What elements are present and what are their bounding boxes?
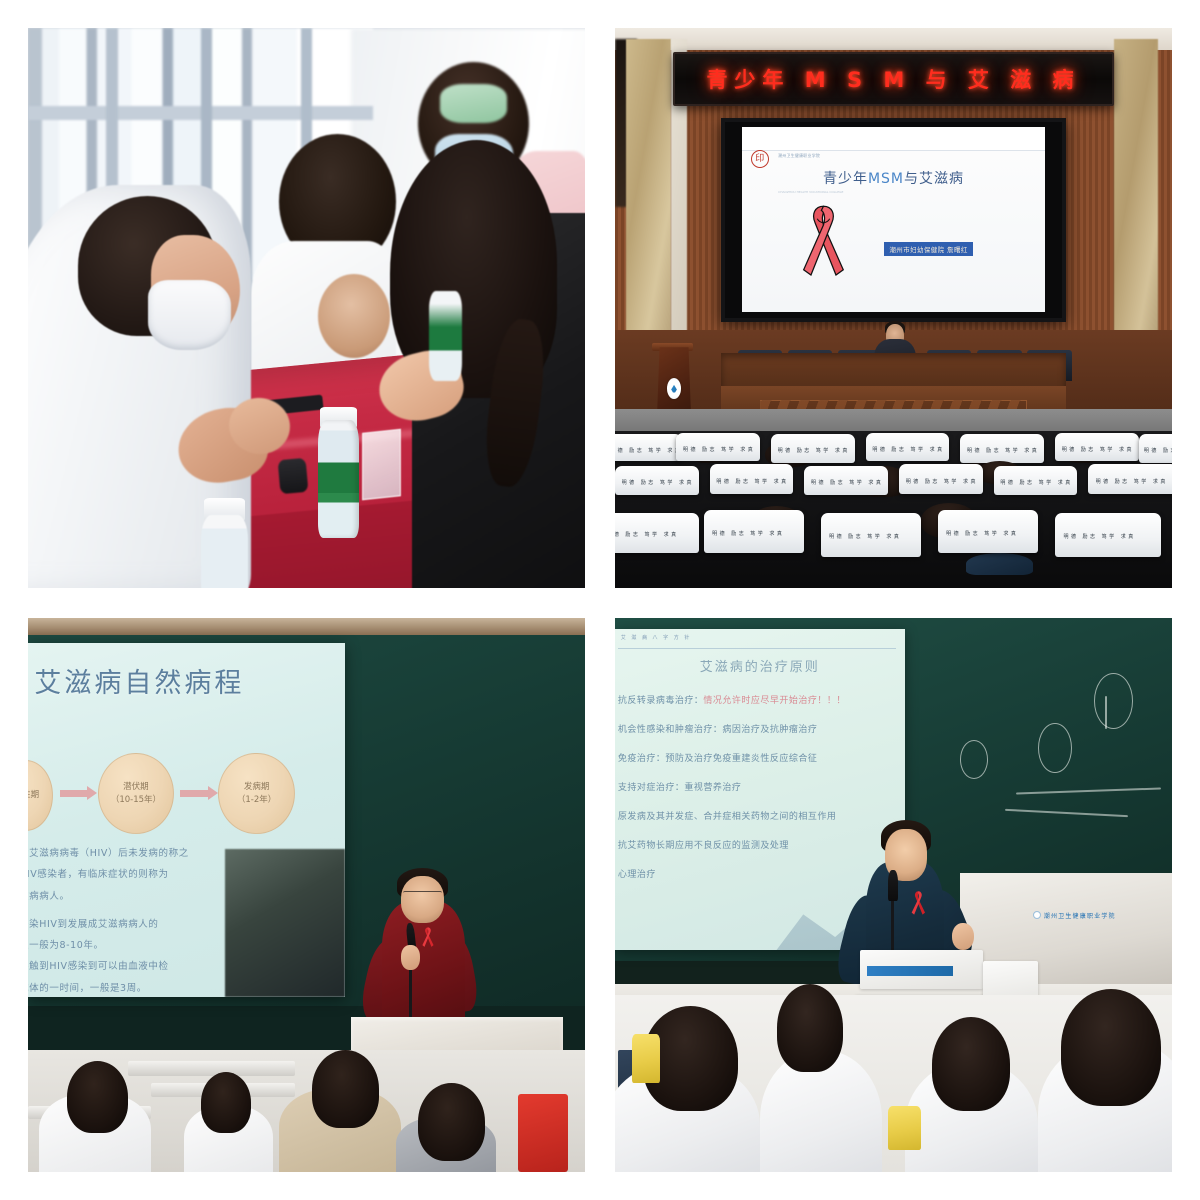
microphone-icon bbox=[888, 870, 898, 900]
flow-arrow bbox=[60, 790, 89, 797]
slide-header: 艾 滋 病 八 字 方 针 bbox=[621, 634, 692, 641]
child-head bbox=[318, 274, 390, 358]
student-head bbox=[777, 984, 844, 1073]
aids-ribbon-icon bbox=[784, 201, 863, 290]
audience-head bbox=[312, 1050, 379, 1128]
slide-title: 艾滋病自然病程 bbox=[34, 661, 244, 700]
panel-classroom-natural-history: 艾滋病自然病程 急性期 潜伏期 （10-15年） 发病期 （1-2年） 感染艾滋… bbox=[28, 618, 585, 1172]
slide-title-part1: 青少年 bbox=[823, 171, 868, 187]
audience-head bbox=[201, 1072, 251, 1133]
face-mask-green bbox=[440, 84, 507, 123]
water-bottle bbox=[429, 291, 462, 381]
aids-ribbon-pin-icon bbox=[421, 926, 435, 950]
stage-label: 急性期 bbox=[28, 789, 39, 802]
chalk-circle bbox=[1038, 723, 1071, 773]
student-head bbox=[932, 1017, 1010, 1111]
slide-title-msm: MSM bbox=[868, 171, 904, 187]
cabinet-org-name: 潮州卫生健康职业学院 bbox=[1044, 911, 1116, 920]
desk-edge bbox=[128, 1061, 295, 1075]
led-banner: 青少年 M S M 与 艾 滋 病 bbox=[673, 52, 1113, 107]
doctor-face-mask bbox=[148, 280, 232, 350]
stage-label: 发病期 bbox=[244, 781, 270, 794]
slide-body-line: 感染艾滋病病毒（HIV）后未发病的称之 bbox=[28, 845, 189, 859]
chalk-circle bbox=[1094, 673, 1133, 728]
stage-ellipse-symptomatic: 发病期 （1-2年） bbox=[218, 753, 294, 835]
panel-classroom-treatment-principles: 艾 滋 病 八 字 方 针 艾滋病的治疗原则 抗反转录病毒治疗：情况允许时应尽早… bbox=[615, 618, 1172, 1172]
slide-body-line: 出抗体的一时间，一般是3周。 bbox=[28, 980, 147, 994]
slide-title: 青少年MSM与艾滋病 bbox=[742, 168, 1046, 188]
seal-icon: 印 bbox=[751, 150, 769, 168]
audience-head bbox=[67, 1061, 128, 1133]
slide-header-org-en: CHAOZHOU HEALTH VOCATIONAL COLLEGE bbox=[778, 190, 843, 194]
slide-body-line: 过程一般为8-10年。 bbox=[28, 937, 104, 951]
slide-bullet: 抗反转录病毒治疗：情况允许时应尽早开始治疗！！！ bbox=[618, 693, 846, 706]
slide-title: 艾滋病的治疗原则 bbox=[615, 656, 905, 675]
audience-navy-hoodie bbox=[966, 553, 1033, 575]
glasses-icon bbox=[403, 891, 442, 899]
slide-author-label: 潮州市妇幼保健院 詹曙红 bbox=[884, 242, 972, 256]
slide-bullet: 原发病及其并发症、合并症相关药物之间的相互作用 bbox=[618, 809, 837, 822]
stage-duration: （1-2年） bbox=[237, 794, 276, 807]
dark-cup bbox=[277, 458, 308, 494]
slide-body-line: 从接触到HIV感染到可以由血液中检 bbox=[28, 958, 169, 972]
led-banner-text: 青少年 M S M 与 艾 滋 病 bbox=[706, 64, 1080, 94]
water-bottle bbox=[318, 420, 360, 538]
stage-label: 潜伏期 bbox=[123, 781, 149, 794]
lab-instrument bbox=[860, 950, 983, 989]
student-head bbox=[1061, 989, 1161, 1105]
lecturer-hand bbox=[401, 945, 420, 970]
slide-bullet: 抗艾药物长期应用不良反应的监测及处理 bbox=[618, 838, 789, 851]
audience-seating: 明德 励志 笃学 求真 明德 励志 笃学 求真 明德 励志 笃学 求真 明德 励… bbox=[615, 431, 1172, 588]
stage-duration: （10-15年） bbox=[111, 794, 161, 807]
slide-inset-photo bbox=[225, 849, 346, 998]
board-top-trim bbox=[28, 618, 585, 635]
slide-bullet: 心理治疗 bbox=[618, 867, 656, 880]
photo-collage: 青少年 M S M 与 艾 滋 病 印 潮州卫生健康职业学院 CHAOZHOU … bbox=[0, 0, 1200, 1200]
water-bottle bbox=[201, 515, 248, 588]
panel-auditorium-lecture: 青少年 M S M 与 艾 滋 病 印 潮州卫生健康职业学院 CHAOZHOU … bbox=[615, 28, 1172, 588]
yellow-cup bbox=[888, 1106, 921, 1150]
slide-header-org: 潮州卫生健康职业学院 bbox=[778, 153, 820, 159]
yellow-cup bbox=[632, 1034, 660, 1084]
speaker-hand bbox=[952, 923, 974, 951]
slide-body-line: 为HIV感染者，有临床症状的则称为 bbox=[28, 866, 169, 880]
chalk-arrow bbox=[1105, 696, 1107, 729]
red-stool bbox=[518, 1094, 568, 1172]
slide-bullet: 机会性感染和肿瘤治疗：病因治疗及抗肿瘤治疗 bbox=[618, 722, 818, 735]
audience-head bbox=[418, 1083, 485, 1161]
lecturer-head bbox=[401, 876, 443, 924]
projected-slide: 艾滋病自然病程 急性期 潜伏期 （10-15年） 发病期 （1-2年） 感染艾滋… bbox=[28, 643, 345, 998]
slide-title-part2: 与艾滋病 bbox=[904, 171, 964, 187]
cabinet-logo: 潮州卫生健康职业学院 bbox=[1033, 906, 1133, 925]
aids-ribbon-pin-icon bbox=[910, 889, 927, 919]
chalk-circle bbox=[960, 740, 988, 779]
slide-bullet-highlight: 情况允许时应尽早开始治疗！！！ bbox=[703, 696, 846, 706]
slide-header-band bbox=[742, 127, 1046, 151]
projection-screen-frame: 印 潮州卫生健康职业学院 CHAOZHOU HEALTH VOCATIONAL … bbox=[721, 118, 1066, 322]
slide-body-line: 从感染HIV到发展成艾滋病病人的 bbox=[28, 916, 159, 930]
slide-bullet: 免疫治疗：预防及治疗免疫重建炎性反应综合征 bbox=[618, 751, 818, 764]
presentation-slide: 印 潮州卫生健康职业学院 CHAOZHOU HEALTH VOCATIONAL … bbox=[742, 127, 1046, 312]
stage-ellipse-latent: 潜伏期 （10-15年） bbox=[98, 753, 174, 835]
name-card-holder bbox=[362, 429, 401, 501]
stage-ellipse-acute: 急性期 bbox=[28, 760, 53, 831]
slide-bullet-text: 抗反转录病毒治疗： bbox=[618, 696, 704, 706]
slide-body-line: 艾滋病病人。 bbox=[28, 888, 70, 902]
panel-clinic-consultation bbox=[28, 28, 585, 588]
college-logo-icon bbox=[1033, 911, 1041, 919]
slide-bullet: 支持对症治疗：重视营养治疗 bbox=[618, 780, 742, 793]
flow-arrow bbox=[180, 790, 209, 797]
slide-rule bbox=[618, 648, 896, 649]
